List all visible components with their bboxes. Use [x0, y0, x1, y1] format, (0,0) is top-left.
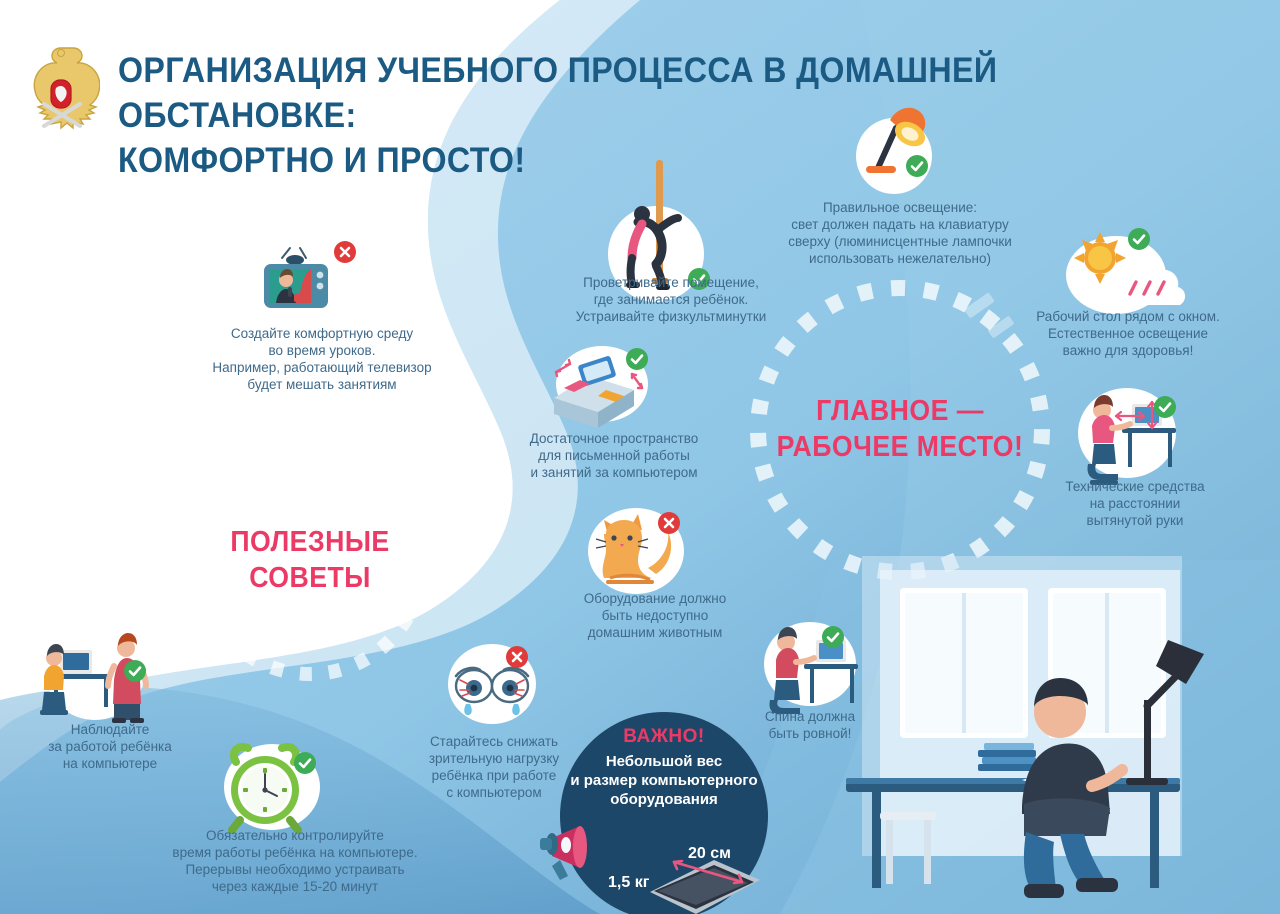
russian-federation-coat-of-arms-icon — [22, 42, 100, 134]
caption-line: домашним животным — [560, 624, 750, 641]
tip-time-check-badge — [294, 752, 316, 774]
section-heading-main-line-1: ГЛАВНОЕ — — [753, 393, 1047, 429]
caption-line: и занятий за компьютером — [498, 464, 730, 481]
tip-ventilate-caption: Проветривайте помещение, где занимается … — [538, 274, 804, 325]
tip-pets-caption: Оборудование должно быть недоступно дома… — [560, 590, 750, 641]
important-title: ВАЖНО! — [560, 726, 768, 748]
boy-studying-illustration — [846, 556, 1204, 898]
tablet-size-label: 20 см — [688, 845, 731, 863]
tip-space-check-badge — [626, 348, 648, 370]
television-icon — [256, 242, 338, 322]
tip-lighting-check-badge — [906, 155, 928, 177]
caption-line: Например, работающий телевизор — [178, 359, 466, 376]
caption-line: сверху (люминисцентные лампочки — [736, 233, 1064, 250]
caption-line: использовать нежелательно) — [736, 250, 1064, 267]
tip-window-check-badge — [1128, 228, 1150, 250]
tip-eye-strain-cross-badge — [506, 646, 528, 668]
caption-line: будет мешать занятиям — [178, 376, 466, 393]
caption-line: быть недоступно — [560, 607, 750, 624]
caption-line: во время уроков. — [178, 342, 466, 359]
tip-space-caption: Достаточное пространство для письменной … — [498, 430, 730, 481]
caption-line: Перерывы необходимо устраивать — [140, 861, 450, 878]
caption-line: свет должен падать на клавиатуру — [736, 216, 1064, 233]
caption-line: Правильное освещение: — [736, 199, 1064, 216]
caption-line: Обязательно контролируйте — [140, 827, 450, 844]
important-body-line-1: Небольшой вес — [556, 752, 772, 771]
sitting-posture-icon — [752, 616, 864, 714]
caption-line: Оборудование должно — [560, 590, 750, 607]
tablet-weight-label: 1,5 кг — [608, 874, 649, 892]
caption-line: Создайте комфортную среду — [178, 325, 466, 342]
tip-arm-distance-caption: Технические средства на расстоянии вытян… — [1020, 478, 1250, 529]
caption-line: где занимается ребёнок. — [538, 291, 804, 308]
tip-time-caption: Обязательно контролируйте время работы р… — [140, 827, 450, 895]
tip-posture-check-badge — [822, 626, 844, 648]
caption-line: Проветривайте помещение, — [538, 274, 804, 291]
tip-window-caption: Рабочий стол рядом с окном. Естественное… — [980, 308, 1276, 359]
caption-line: Наблюдайте — [10, 721, 210, 738]
tip-arm-distance-check-badge — [1154, 396, 1176, 418]
section-heading-main-workplace: ГЛАВНОЕ — РАБОЧЕЕ МЕСТО! — [753, 393, 1047, 465]
caption-line: на расстоянии — [1020, 495, 1250, 512]
tip-lighting-caption: Правильное освещение: свет должен падать… — [736, 199, 1064, 267]
caption-line: Устраивайте физкультминутки — [538, 308, 804, 325]
section-heading-tips-line-2: СОВЕТЫ — [209, 560, 411, 596]
caption-line: Естественное освещение — [980, 325, 1276, 342]
page-title: ОРГАНИЗАЦИЯ УЧЕБНОГО ПРОЦЕССА В ДОМАШНЕЙ… — [118, 48, 1093, 183]
tip-tv-caption: Создайте комфортную среду во время уроко… — [178, 325, 466, 393]
infographic-poster: ОРГАНИЗАЦИЯ УЧЕБНОГО ПРОЦЕССА В ДОМАШНЕЙ… — [0, 0, 1280, 914]
caption-line: Достаточное пространство — [498, 430, 730, 447]
caption-line: Спина должна — [730, 708, 890, 725]
important-body: Небольшой вес и размер компьютерного обо… — [556, 752, 772, 809]
tip-supervise-check-badge — [124, 660, 146, 682]
megaphone-icon — [536, 818, 616, 888]
tip-pets-cross-badge — [658, 512, 680, 534]
section-heading-tips-line-1: ПОЛЕЗНЫЕ — [209, 524, 411, 560]
caption-line: через каждые 15-20 минут — [140, 878, 450, 895]
caption-line: Рабочий стол рядом с окном. — [980, 308, 1276, 325]
sun-cloud-icon — [1058, 224, 1186, 320]
caption-line: Технические средства — [1020, 478, 1250, 495]
tip-tv-cross-badge — [334, 241, 356, 263]
caption-line: на компьютере — [10, 755, 210, 772]
important-body-line-3: оборудования — [556, 790, 772, 809]
caption-line: для письменной работы — [498, 447, 730, 464]
desk-lamp-icon — [846, 92, 946, 188]
caption-line: вытянутой руки — [1020, 512, 1250, 529]
caption-line: за работой ребёнка — [10, 738, 210, 755]
section-heading-main-line-2: РАБОЧЕЕ МЕСТО! — [753, 429, 1047, 465]
tip-supervise-caption: Наблюдайте за работой ребёнка на компьют… — [10, 721, 210, 772]
section-heading-tips: ПОЛЕЗНЫЕ СОВЕТЫ — [209, 524, 411, 596]
important-body-line-2: и размер компьютерного — [556, 771, 772, 790]
caption-line: время работы ребёнка на компьютере. — [140, 844, 450, 861]
caption-line: важно для здоровья! — [980, 342, 1276, 359]
page-title-line-2: КОМФОРТНО И ПРОСТО! — [118, 138, 1093, 183]
